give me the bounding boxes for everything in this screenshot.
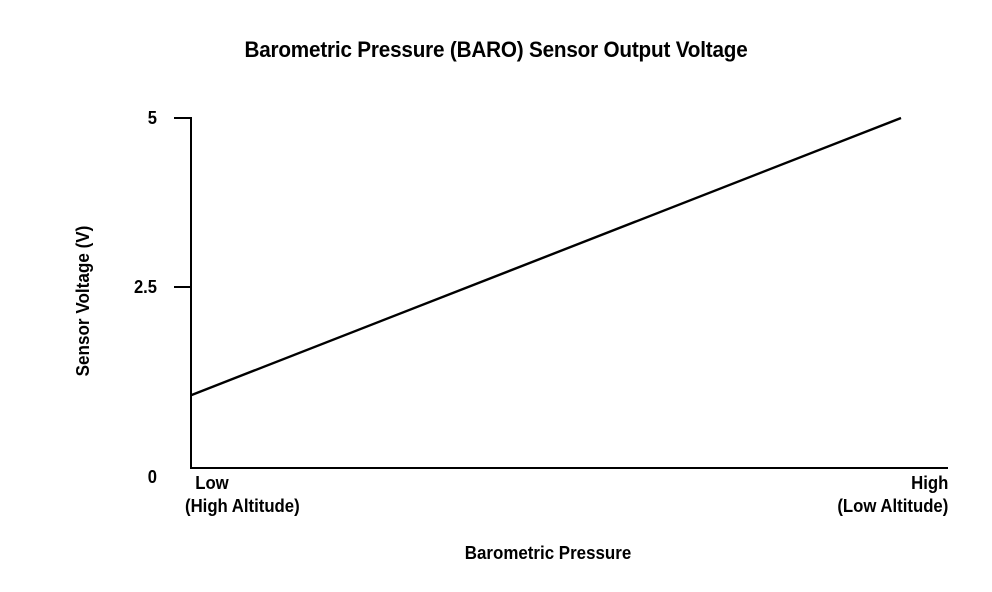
y-tick-label-5: 5 <box>47 108 157 128</box>
x-tick-label-low-line1: Low <box>185 472 300 495</box>
x-tick-label-high-line2: (Low Altitude) <box>837 495 948 518</box>
chart-figure: Barometric Pressure (BARO) Sensor Output… <box>0 0 992 592</box>
y-axis-title: Sensor Voltage (V) <box>73 159 93 444</box>
x-tick-label-low: Low (High Altitude) <box>185 472 300 518</box>
y-tick-label-0: 0 <box>47 467 157 487</box>
x-tick-label-high: High (Low Altitude) <box>837 472 948 518</box>
data-line-baro-voltage <box>191 118 901 395</box>
y-tick-label-2point5: 2.5 <box>47 277 157 297</box>
x-tick-label-low-line2: (High Altitude) <box>185 495 300 518</box>
x-axis-title: Barometric Pressure <box>212 542 883 564</box>
x-tick-label-high-line1: High <box>837 472 948 495</box>
